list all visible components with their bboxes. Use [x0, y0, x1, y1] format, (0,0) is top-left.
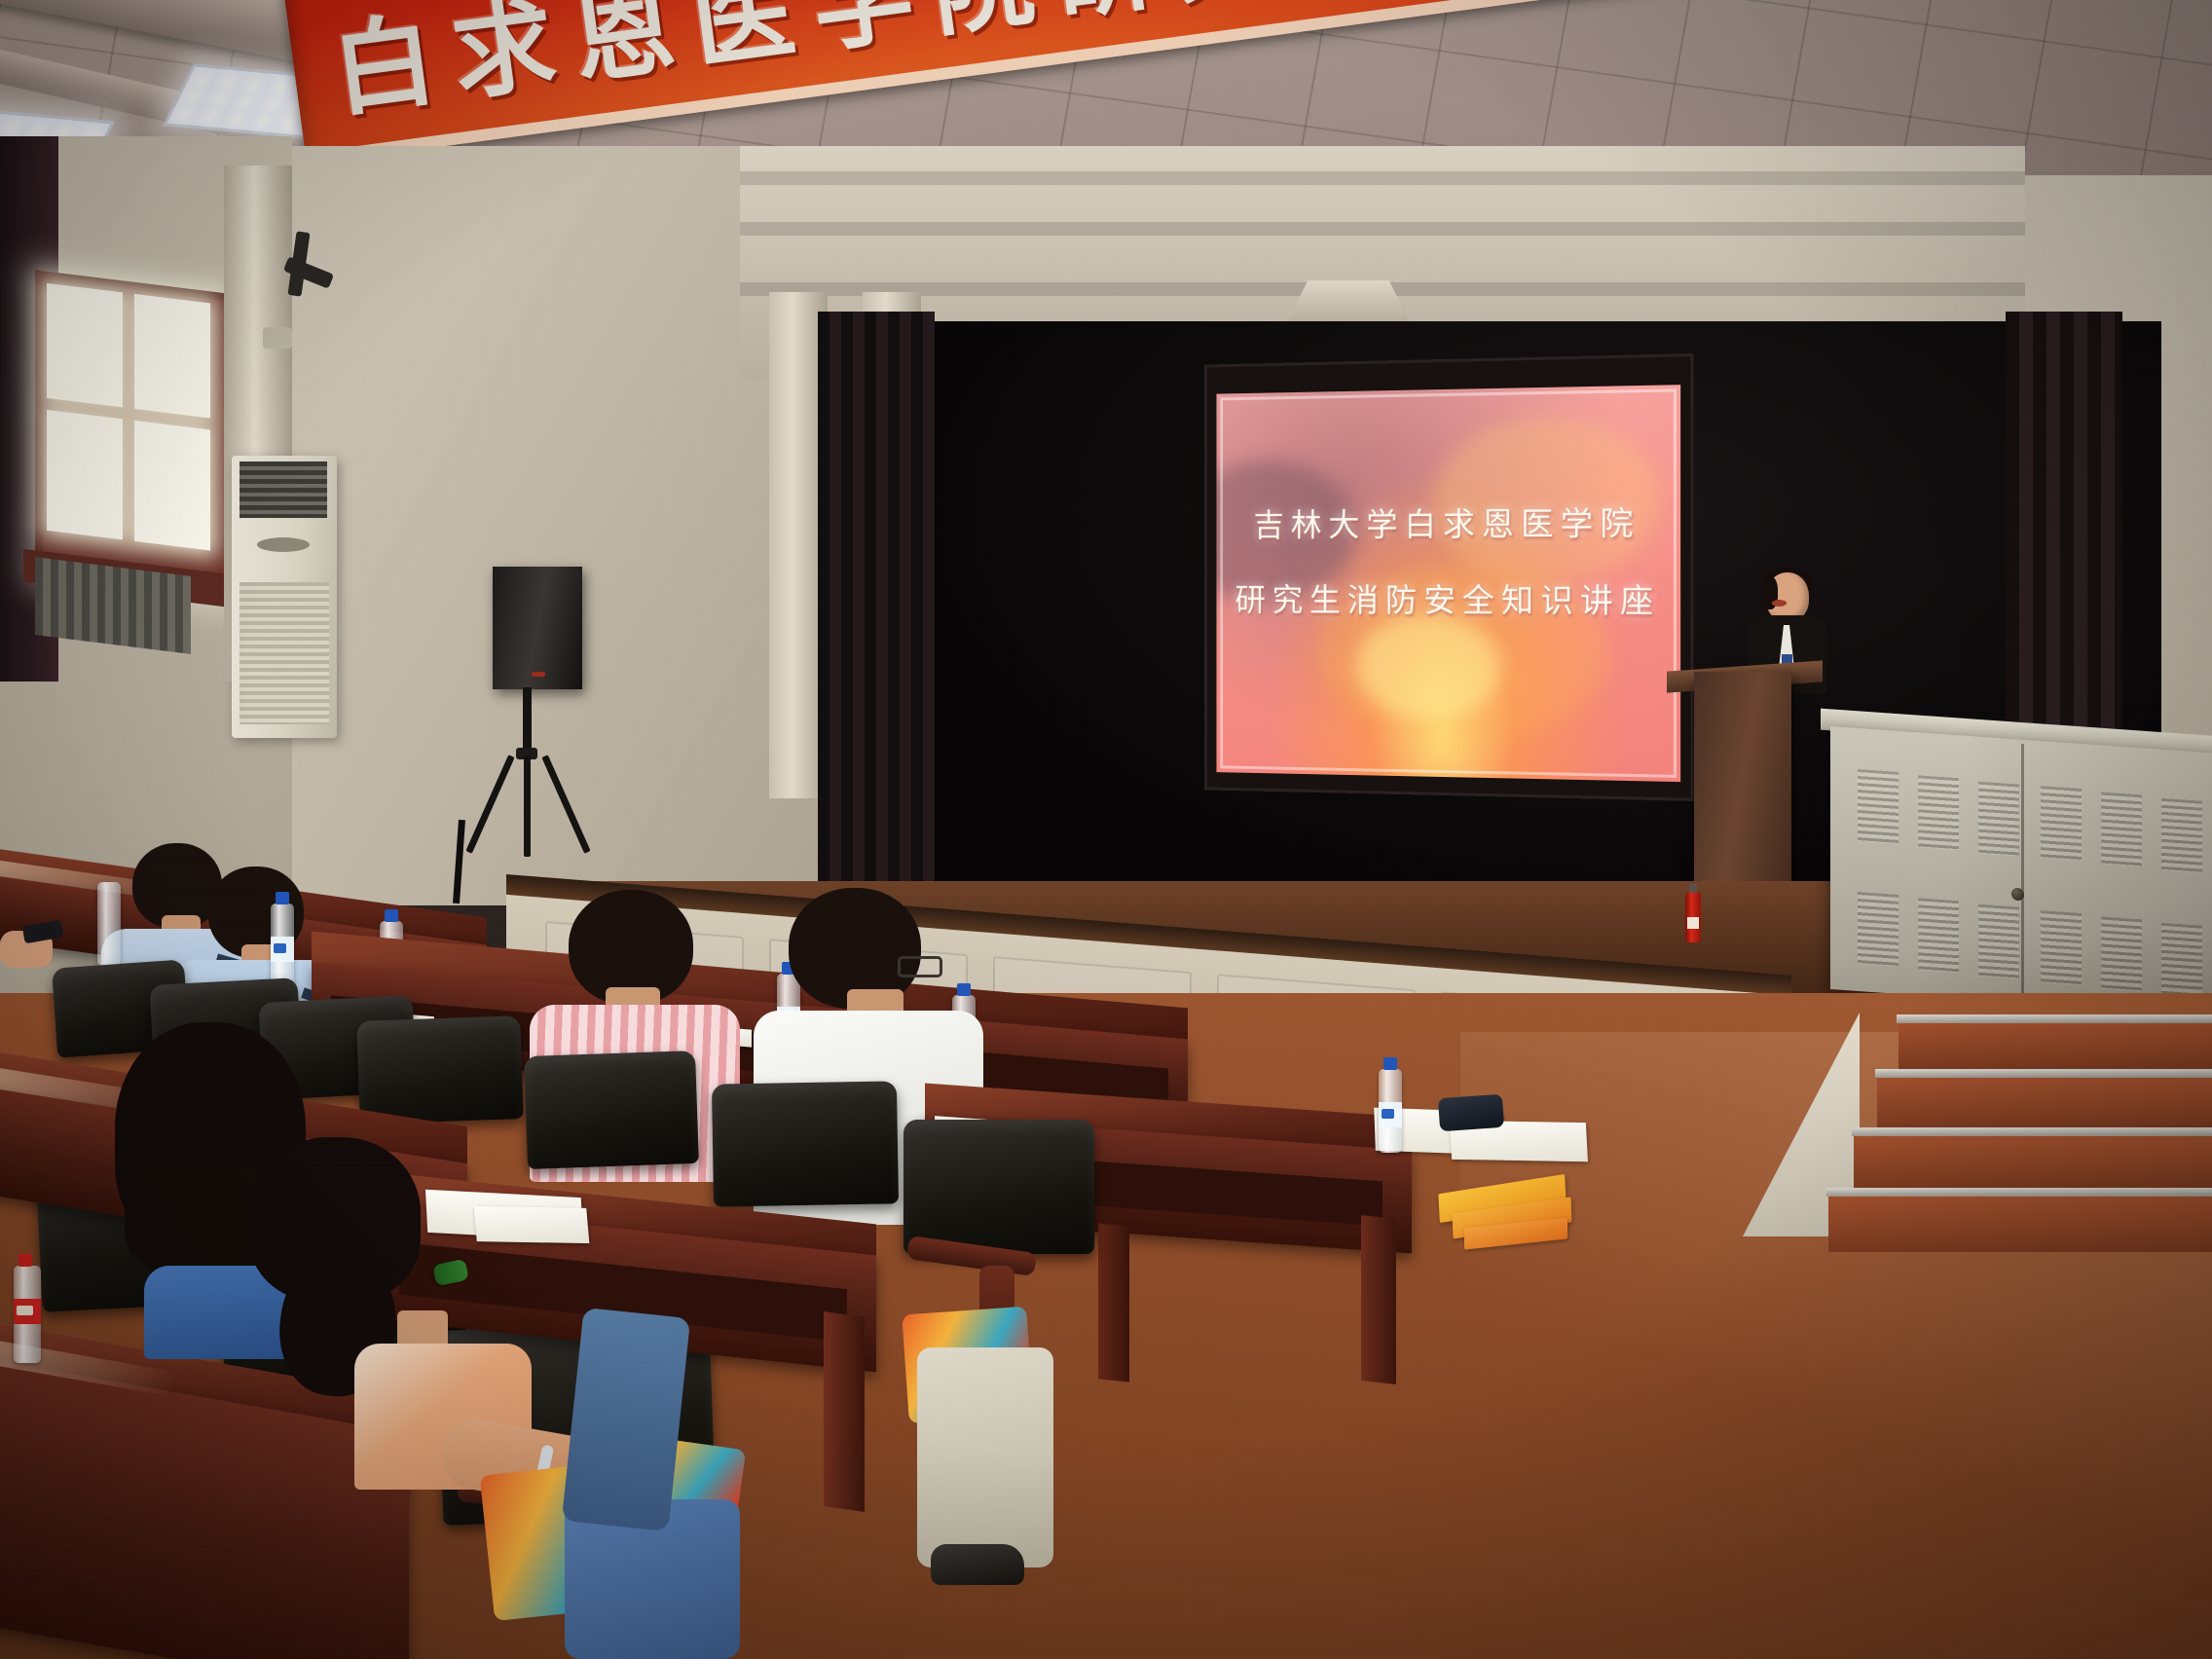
slide-border — [1220, 388, 1677, 778]
desk-row-3-leg — [1098, 1223, 1129, 1382]
glasses-icon — [898, 956, 942, 977]
cabinet-louver — [1858, 892, 1899, 967]
water-bottle-red-label — [14, 1266, 41, 1363]
stage-stairs — [1772, 1013, 2212, 1334]
camera-bag — [1438, 1094, 1504, 1132]
desk-row-3-leg — [1361, 1215, 1396, 1384]
cabinet-louver — [2041, 786, 2082, 861]
loudspeaker-logo — [532, 672, 545, 677]
cabinet-louver — [2041, 910, 2082, 985]
stair-nosing — [1852, 1127, 2212, 1136]
open-papers — [474, 1206, 590, 1243]
cabinet-louver — [2101, 792, 2142, 866]
bottle-cap — [1383, 1057, 1397, 1070]
cabinet-louver — [1858, 769, 1899, 844]
stair-nosing — [1826, 1188, 2212, 1197]
proscenium-molding — [740, 171, 2025, 185]
auditorium-chair[interactable] — [524, 1051, 699, 1169]
auditorium-photo: 白求恩医学院研究生消防安全知识讲座 吉林大学白求 — [0, 0, 2212, 1659]
desk-row-5-leg — [824, 1311, 865, 1512]
bottle-label — [14, 1299, 41, 1324]
audience-member-white-shirt-legs — [917, 1347, 1053, 1567]
cabinet-louver — [2161, 798, 2202, 873]
window-pane — [47, 283, 123, 408]
stage-curtain-left — [818, 312, 935, 954]
auditorium-chair[interactable] — [712, 1081, 899, 1206]
window — [35, 270, 236, 602]
wall-lamp — [263, 327, 292, 349]
auditorium-chair[interactable] — [903, 1120, 1094, 1254]
tripod-leg — [524, 756, 531, 857]
cabinet-louver — [1978, 904, 2019, 979]
proscenium-molding — [740, 222, 2025, 236]
bottle-cap — [957, 983, 971, 996]
cabinet-louver — [2101, 916, 2142, 991]
stair-step — [1877, 1073, 2212, 1127]
water-bottle — [271, 903, 294, 987]
fire-extinguisher — [1685, 892, 1701, 942]
shoe — [931, 1544, 1024, 1585]
cabinet-louver — [1978, 782, 2019, 857]
bottle-cap — [276, 892, 289, 904]
bottle-cap — [385, 909, 398, 922]
stair-nosing — [1875, 1069, 2212, 1078]
cabinet-louver — [1918, 775, 1959, 850]
window-pane — [134, 294, 210, 419]
cabinet-louver — [1918, 898, 1959, 973]
air-conditioner-vent — [240, 461, 327, 518]
auditorium-chair[interactable] — [356, 1015, 524, 1124]
projection-screen-frame: 吉林大学白求恩医学院 研究生消防安全知识讲座 — [1207, 356, 1691, 798]
bottle-label — [271, 937, 294, 962]
stair-nosing — [1897, 1014, 2212, 1023]
stair-step — [1854, 1131, 2212, 1188]
water-bottle — [1379, 1069, 1402, 1153]
bottle-cap — [18, 1254, 32, 1267]
window-pane — [134, 421, 210, 551]
presenter-mouth — [1772, 600, 1787, 607]
jeans — [562, 1308, 690, 1531]
fire-extinguisher-label — [1687, 917, 1699, 929]
cabinet-louver — [2161, 923, 2202, 998]
air-conditioner-logo — [257, 537, 310, 552]
water-bottle — [97, 882, 121, 966]
projection-screen: 吉林大学白求恩医学院 研究生消防安全知识讲座 — [1216, 385, 1680, 782]
cabinet-door-split — [2021, 744, 2024, 999]
air-conditioner-lower-grill — [240, 582, 329, 724]
cabinet-lock-knob — [2011, 888, 2024, 902]
window-pane — [47, 410, 123, 540]
bottle-label — [1379, 1102, 1402, 1127]
stair-step — [1828, 1192, 2212, 1252]
stair-step — [1899, 1018, 2212, 1069]
